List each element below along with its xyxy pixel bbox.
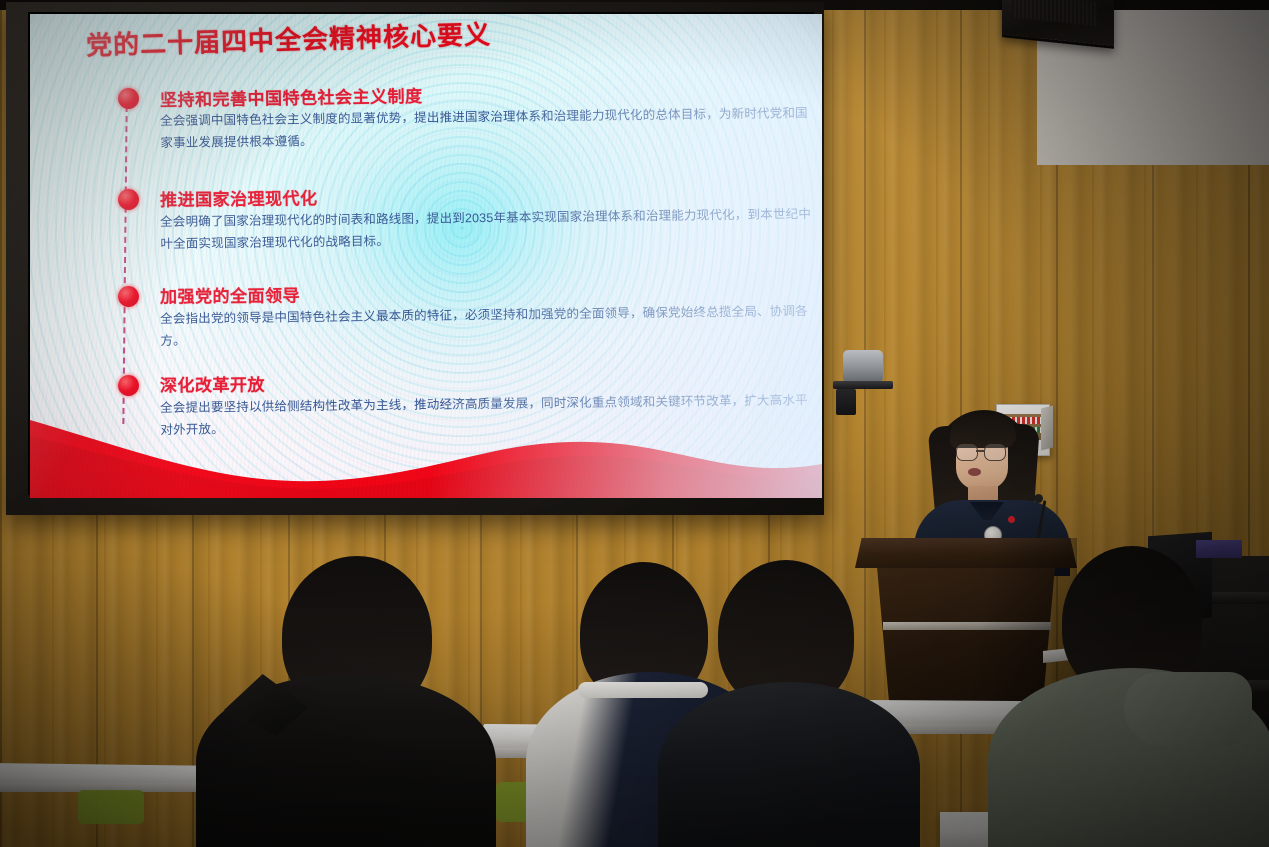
lecture-hall-scene: 党的二十届四中全会精神核心要义 坚持和完善中国特色社会主义制度 全会强调中国特色…	[0, 0, 1269, 847]
room-lighting-overlay	[0, 0, 1269, 847]
